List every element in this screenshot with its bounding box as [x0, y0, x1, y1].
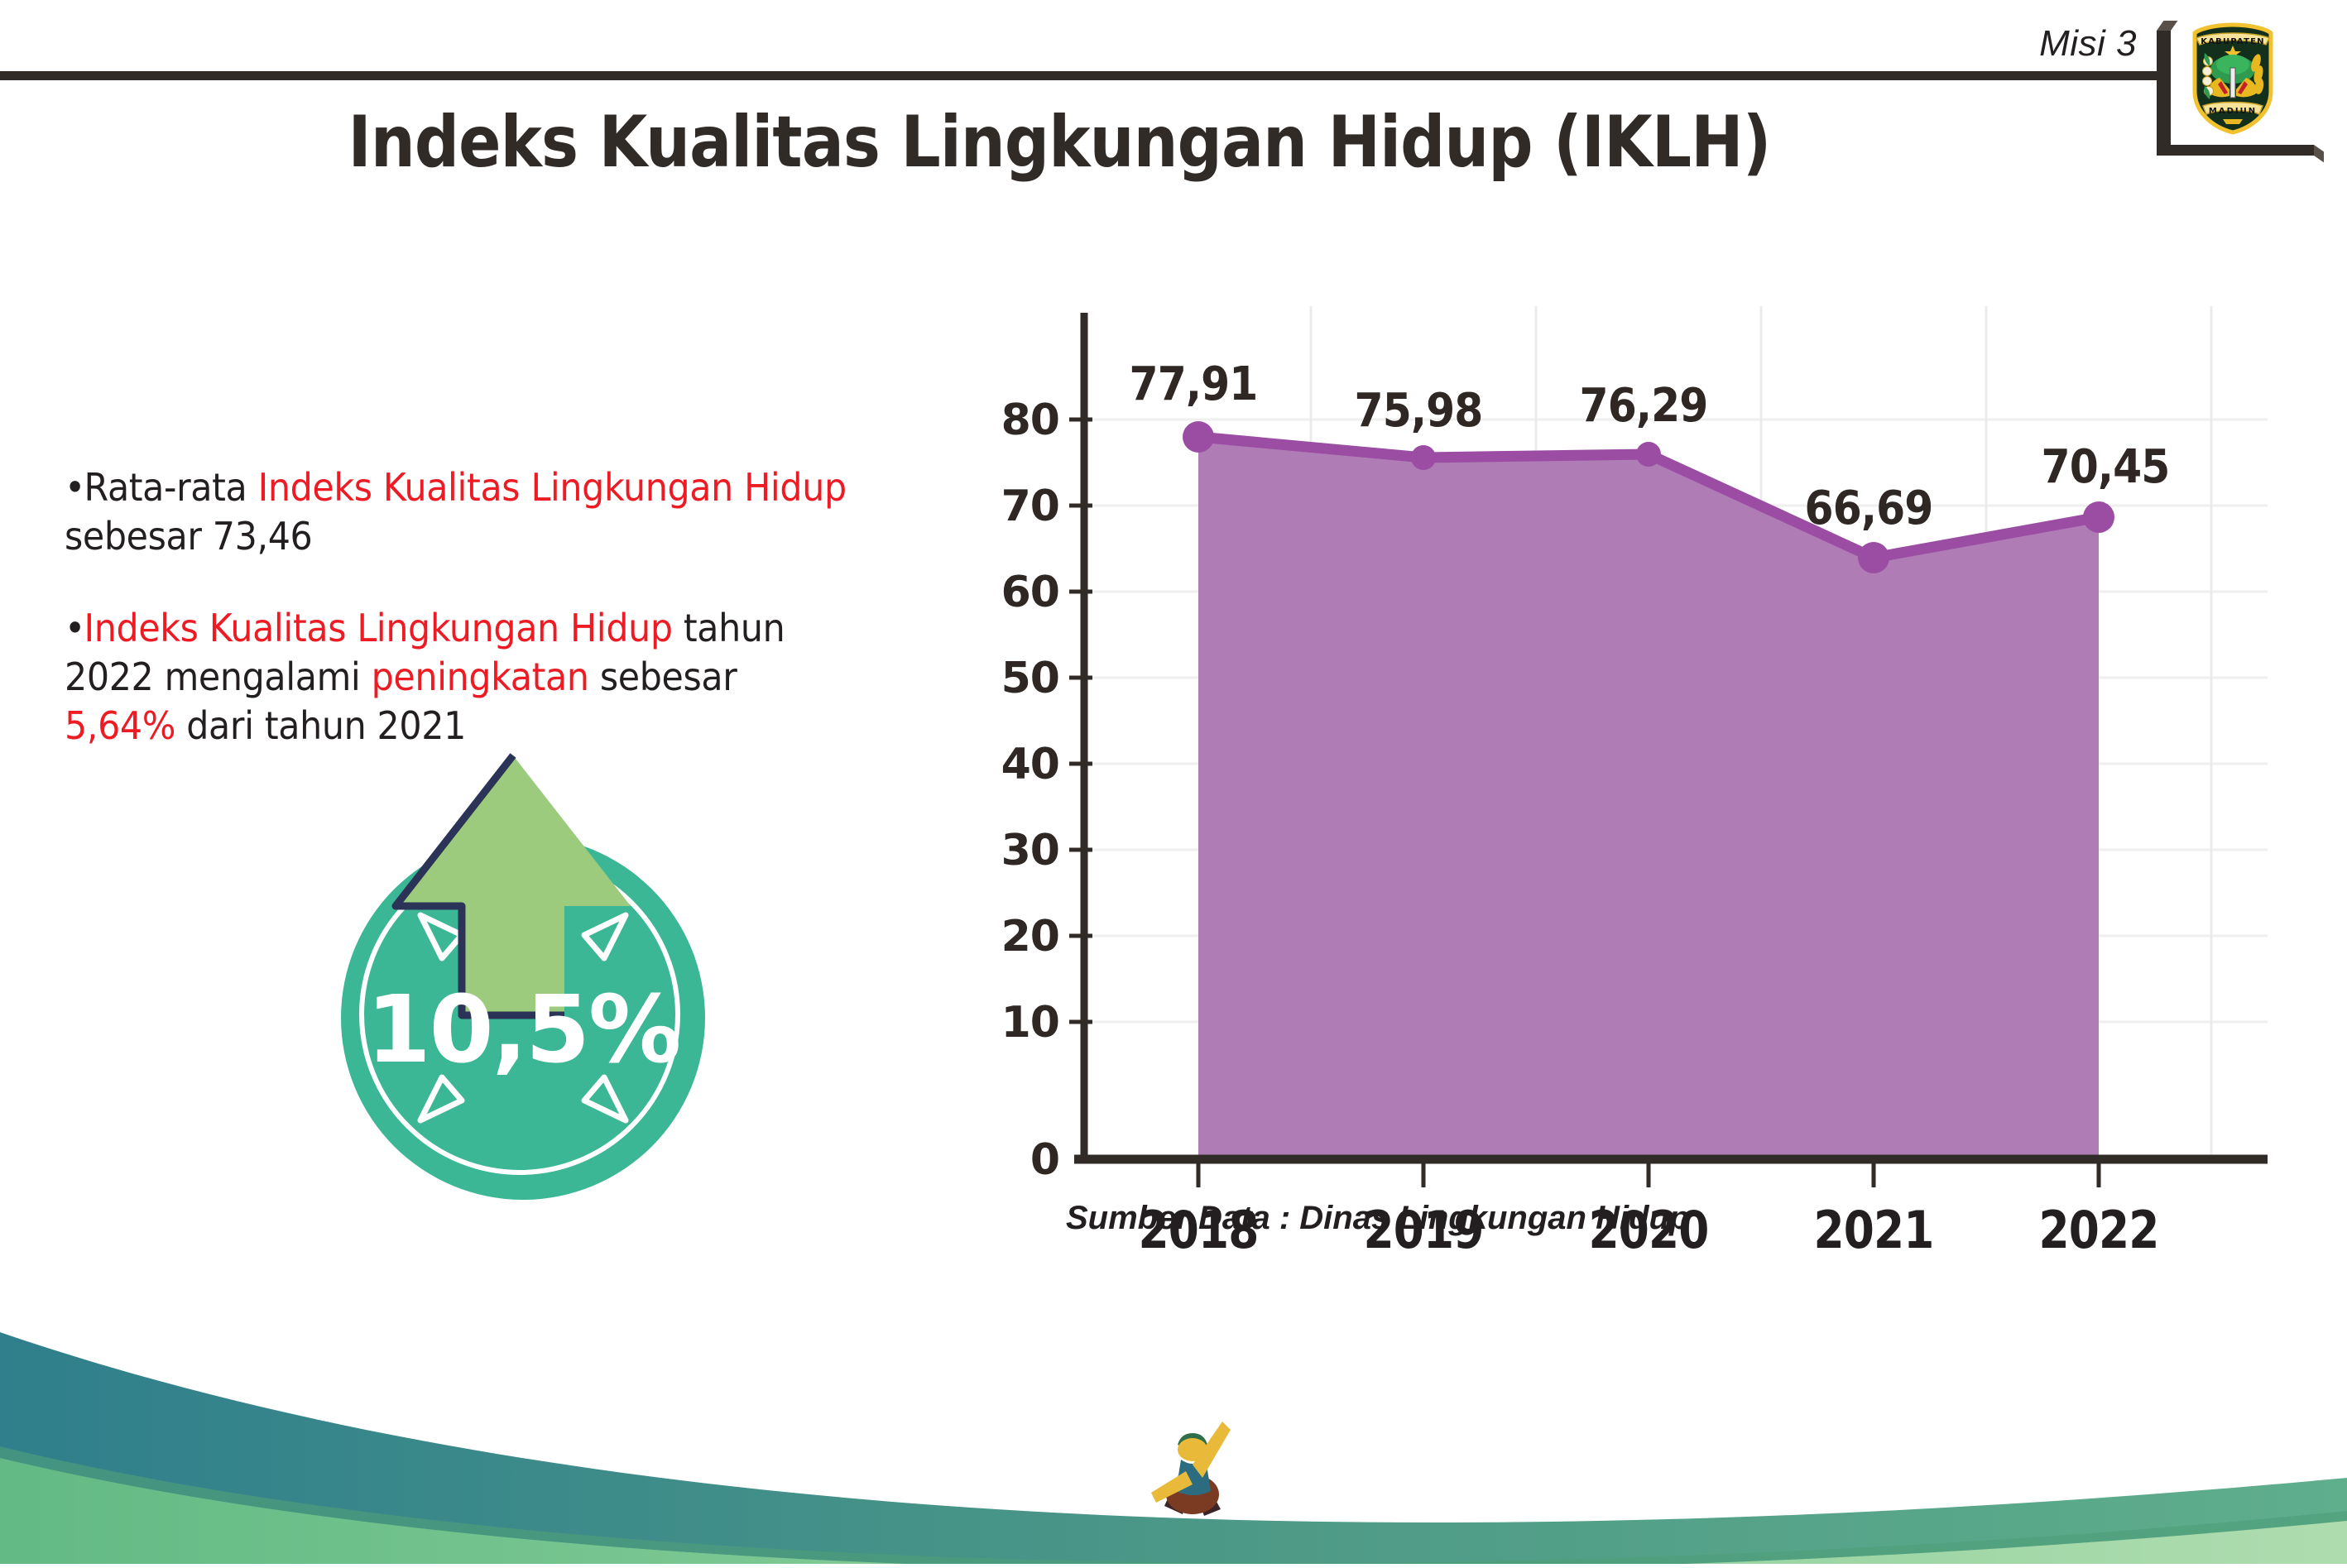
y-tick-label: 20 — [968, 912, 1059, 961]
bullet-list: •Rata-rata Indeks Kualitas Lingkungan Hi… — [65, 463, 909, 793]
statistik-figure-icon — [1145, 1408, 1237, 1526]
bullet-text-part-highlight: Indeks Kualitas Lingkungan Hidup — [258, 465, 847, 510]
footer-banner: Media Infografis Data Statistik Sektoral… — [0, 1316, 2347, 1564]
iklh-area-chart: 0 10 20 30 40 50 60 70 80 2018 2019 2020… — [977, 298, 2268, 1274]
x-tick-label: 2022 — [2006, 1200, 2191, 1260]
bullet-marker: • — [65, 463, 84, 512]
increase-badge: 10,5% — [324, 749, 755, 1204]
bullet-text-part: Rata-rata — [84, 465, 258, 510]
bullet-marker: • — [65, 604, 84, 653]
list-item: •Rata-rata Indeks Kualitas Lingkungan Hi… — [65, 463, 850, 561]
y-tick-label: 50 — [968, 654, 1059, 703]
svg-text:KABUPATEN: KABUPATEN — [2201, 37, 2264, 46]
chart-source-note: Sumber Data : Dinas Lingkungan Hidup — [1066, 1200, 1689, 1237]
bullet-text-part-highlight: Indeks Kualitas Lingkungan Hidup — [84, 606, 673, 650]
header-divider-rule — [0, 71, 2168, 80]
data-point-label: 76,29 — [1547, 379, 1740, 433]
y-tick-label: 10 — [968, 998, 1059, 1048]
header-bracket-vertical — [2157, 31, 2171, 155]
bullet-text-part-highlight: peningkatan — [372, 655, 589, 699]
y-tick-label: 80 — [968, 396, 1059, 445]
bullet-text-part: dari tahun 2021 — [175, 703, 466, 748]
y-tick-label: 60 — [968, 568, 1059, 617]
x-tick-label: 2021 — [1781, 1200, 1966, 1260]
y-tick-label: 0 — [968, 1135, 1059, 1185]
y-tick-label: 70 — [968, 482, 1059, 531]
header-bracket-horizontal — [2157, 145, 2314, 156]
footer-text: Media Infografis Data Statistik Sektoral… — [1233, 1395, 2269, 1491]
data-point-label: 70,45 — [2009, 440, 2202, 494]
y-tick-label: 40 — [968, 740, 1059, 789]
bullet-text-part: sebesar 73,46 — [65, 514, 312, 559]
page-title: Indeks Kualitas Lingkungan Hidup (IKLH) — [127, 101, 1992, 184]
data-point-label: 77,91 — [1097, 357, 1290, 411]
y-tick-label: 30 — [968, 826, 1059, 875]
badge-value: 10,5% — [341, 976, 705, 1084]
bullet-text-part-highlight: 5,64% — [65, 703, 175, 748]
bullet-text-part: sebesar — [589, 655, 737, 699]
data-point-label: 66,69 — [1772, 482, 1965, 535]
list-item: •Indeks Kualitas Lingkungan Hidup tahun … — [65, 604, 850, 750]
data-point-label: 75,98 — [1322, 384, 1515, 438]
kabupaten-madiun-logo-icon: KABUPATEN MADIUN — [2183, 20, 2282, 136]
svg-text:MADIUN: MADIUN — [2209, 107, 2257, 116]
misi-label: Misi 3 — [2039, 23, 2137, 65]
